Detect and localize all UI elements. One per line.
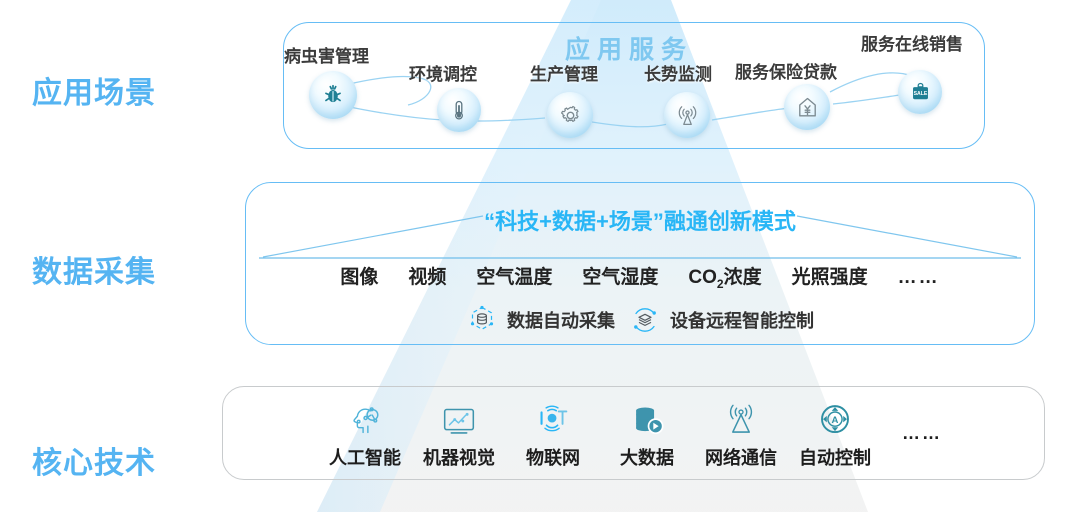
co2-subscript: 2 <box>717 277 724 291</box>
house-yen-icon <box>795 95 820 120</box>
monitor-chart-icon <box>438 400 480 442</box>
data-metric: 视频 <box>408 262 446 289</box>
application-row: 应用服务 病虫害管理 环境调控 生 <box>0 0 1080 170</box>
tech-item-big-data[interactable]: 大数据 <box>600 396 694 470</box>
tech-item-ai[interactable]: 人工智能 <box>318 396 412 470</box>
tech-icon-wrap: A <box>814 396 856 442</box>
tech-label: 机器视觉 <box>423 444 495 470</box>
tech-label: 大数据 <box>620 444 674 470</box>
tech-label: 网络通信 <box>705 444 777 470</box>
data-metric-list: 图像 视频 空气温度 空气湿度 CO2浓度 光照强度 …… <box>245 262 1035 291</box>
big-data-icon <box>626 400 668 442</box>
data-metric-ellipsis: …… <box>898 267 940 289</box>
layers-circle-icon <box>629 304 661 336</box>
node-circle-environment-control[interactable] <box>437 88 481 132</box>
auto-control-icon: A <box>814 400 856 442</box>
data-metric: 空气湿度 <box>582 262 658 289</box>
tech-item-iot[interactable]: 物联网 <box>506 396 600 470</box>
node-circle-pest-management[interactable] <box>309 71 357 119</box>
ai-head-icon <box>344 400 386 442</box>
row-label-data: 数据采集 <box>32 247 156 291</box>
data-metric: 图像 <box>340 262 378 289</box>
co2-base: CO <box>688 267 717 288</box>
data-function-label: 设备远程智能控制 <box>670 307 814 333</box>
svg-text:A: A <box>832 415 839 426</box>
node-label-growth-monitoring: 长势监测 <box>644 60 712 85</box>
node-label-insurance-loan: 服务保险贷款 <box>735 58 837 83</box>
data-function-auto-collect[interactable]: 数据自动采集 <box>466 304 615 336</box>
row-label-technology: 核心技术 <box>32 438 156 482</box>
database-hex-icon <box>466 304 498 336</box>
co2-tail: 浓度 <box>724 267 762 288</box>
sale-tag-icon: SALE <box>909 81 932 104</box>
tech-item-machine-vision[interactable]: 机器视觉 <box>412 396 506 470</box>
data-metric-co2: CO2浓度 <box>688 262 761 291</box>
tech-icon-wrap <box>720 396 762 442</box>
tech-icon-wrap <box>438 396 480 442</box>
data-collection-row: “科技+数据+场景”融通创新模式 图像 视频 空气温度 空气湿度 CO2浓度 光… <box>245 182 1035 345</box>
tech-label: 人工智能 <box>329 444 401 470</box>
svg-text:SALE: SALE <box>913 90 927 96</box>
data-function-remote-control[interactable]: 设备远程智能控制 <box>629 304 814 336</box>
tech-label: 物联网 <box>526 444 580 470</box>
node-circle-growth-monitoring[interactable] <box>664 92 710 138</box>
node-circle-insurance-loan[interactable] <box>784 84 830 130</box>
tech-item-network-communication[interactable]: 网络通信 <box>694 396 788 470</box>
data-function-label: 数据自动采集 <box>507 307 615 333</box>
node-circle-production-management[interactable] <box>547 92 593 138</box>
data-model-title: “科技+数据+场景”融通创新模式 <box>245 204 1035 236</box>
antenna-signal-icon <box>720 400 762 442</box>
node-label-environment-control: 环境调控 <box>409 60 477 85</box>
tech-item-auto-control[interactable]: A 自动控制 <box>788 396 882 470</box>
data-function-list: 数据自动采集 设备远程智能控制 <box>245 304 1035 336</box>
iot-icon <box>532 400 574 442</box>
bug-icon <box>320 82 346 108</box>
node-label-production-management: 生产管理 <box>530 60 598 85</box>
node-label-pest-management: 病虫害管理 <box>284 42 369 67</box>
gear-icon <box>558 103 583 128</box>
tech-icon-wrap <box>626 396 668 442</box>
data-metric: 光照强度 <box>792 262 868 289</box>
tech-ellipsis: …… <box>882 423 962 444</box>
infographic-canvas: 应用场景 数据采集 核心技术 应用服务 病虫害管理 <box>0 0 1080 512</box>
tech-label: 自动控制 <box>799 444 871 470</box>
node-circle-online-sales[interactable]: SALE <box>898 70 942 114</box>
data-metric: 空气温度 <box>476 262 552 289</box>
core-technology-row: 人工智能 机器视觉 <box>222 386 1045 480</box>
tech-icon-wrap <box>532 396 574 442</box>
signal-tower-icon <box>675 103 700 128</box>
thermometer-icon <box>447 98 471 122</box>
node-label-online-sales: 服务在线销售 <box>861 30 963 55</box>
tech-icon-wrap <box>344 396 386 442</box>
